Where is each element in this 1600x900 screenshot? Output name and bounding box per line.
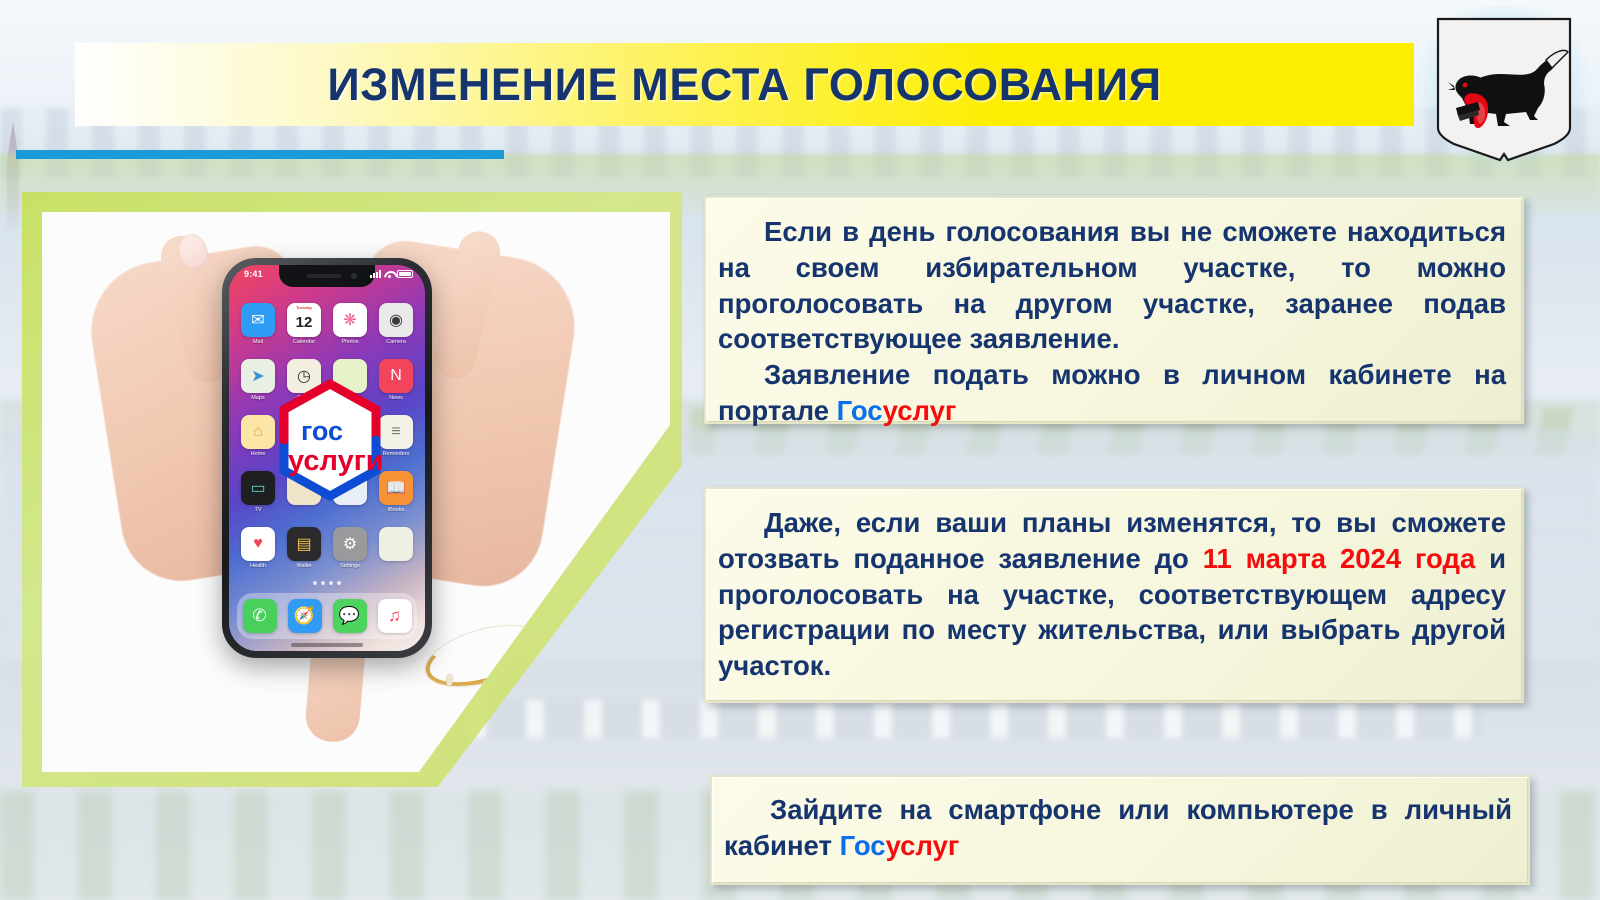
- page-dot[interactable]: [329, 581, 333, 585]
- text-run-blue: Гос: [840, 830, 886, 861]
- phone-notch: [279, 265, 375, 287]
- app-label: Mail: [253, 339, 263, 345]
- app-label: Photos: [341, 339, 358, 345]
- text-run-red: 11 марта 2024 года: [1203, 543, 1476, 574]
- coat-of-arms-icon: [1434, 16, 1574, 166]
- gosuslugi-logo-line2: услуги: [288, 445, 384, 477]
- blank-app-icon[interactable]: [379, 527, 413, 561]
- gosuslugi-logo-line1: гос: [301, 416, 343, 446]
- page-dot[interactable]: [337, 581, 341, 585]
- info-box-3: Зайдите на смартфоне или компьютере в ли…: [710, 775, 1530, 885]
- status-bar-time: 9:41: [244, 269, 263, 279]
- app-item[interactable]: ❋Photos: [331, 303, 369, 345]
- app-label: Settings: [340, 563, 360, 569]
- info-box-1: Если в день голосования вы не сможете на…: [704, 196, 1524, 424]
- calendar-weekday: Tuesday: [287, 305, 321, 310]
- info-paragraph: Зайдите на смартфоне или компьютере в ли…: [724, 792, 1512, 864]
- page-title: ИЗМЕНЕНИЕ МЕСТА ГОЛОСОВАНИЯ: [75, 43, 1414, 126]
- cellular-signal-icon: [370, 270, 381, 278]
- calendar-day: 12: [296, 314, 313, 331]
- settings-app-icon[interactable]: ⚙: [333, 527, 367, 561]
- header-accent-rule: [16, 150, 504, 159]
- wallet-app-icon[interactable]: ▤: [287, 527, 321, 561]
- gosuslugi-hexagon-icon: гос услуги: [268, 378, 392, 502]
- app-label: Calendar: [293, 339, 315, 345]
- text-run-normal: Если в день голосования вы не сможете на…: [718, 216, 1506, 354]
- page-dot[interactable]: [321, 581, 325, 585]
- mail-app-icon[interactable]: ✉: [241, 303, 275, 337]
- info-paragraph: Заявление подать можно в личном кабинете…: [718, 357, 1506, 429]
- home-indicator[interactable]: [291, 643, 363, 647]
- info-paragraph: Если в день голосования вы не сможете на…: [718, 214, 1506, 357]
- health-app-icon[interactable]: ♥: [241, 527, 275, 561]
- text-run-red: услуг: [886, 830, 960, 861]
- app-item[interactable]: ▤Wallet: [285, 527, 323, 569]
- gosuslugi-logo: гос услуги: [268, 378, 392, 502]
- app-label: Health: [250, 563, 266, 569]
- safari-dock-icon[interactable]: 🧭: [288, 599, 322, 633]
- app-label: TV: [254, 507, 261, 513]
- app-label: Home: [251, 451, 266, 457]
- wifi-icon: [384, 270, 394, 278]
- app-label: Camera: [386, 339, 406, 345]
- home-screen-dock: ✆🧭💬♫: [237, 593, 417, 639]
- phone-dock-icon[interactable]: ✆: [243, 599, 277, 633]
- info-paragraph: Даже, если ваши планы изменятся, то вы с…: [718, 505, 1506, 684]
- app-item[interactable]: ♥Health: [239, 527, 277, 569]
- home-screen-page-dots[interactable]: [313, 581, 341, 585]
- app-item[interactable]: ◉Camera: [377, 303, 415, 345]
- music-dock-icon[interactable]: ♫: [378, 599, 412, 633]
- app-label: Wallet: [296, 563, 311, 569]
- text-run-red: услуг: [883, 395, 957, 426]
- text-run-blue: Гос: [837, 395, 883, 426]
- phone-speaker: [307, 274, 341, 278]
- app-item[interactable]: [377, 527, 415, 569]
- photos-app-icon[interactable]: ❋: [333, 303, 367, 337]
- battery-icon: [397, 270, 413, 278]
- messages-dock-icon[interactable]: 💬: [333, 599, 367, 633]
- page-dot[interactable]: [313, 581, 317, 585]
- app-label: iBooks: [388, 507, 405, 513]
- app-item[interactable]: ⚙Settings: [331, 527, 369, 569]
- info-box-2: Даже, если ваши планы изменятся, то вы с…: [704, 487, 1524, 703]
- app-item[interactable]: Tuesday12Calendar: [285, 303, 323, 345]
- calendar-app-icon[interactable]: Tuesday12: [287, 303, 321, 337]
- phone-front-camera: [351, 273, 357, 279]
- camera-app-icon[interactable]: ◉: [379, 303, 413, 337]
- bracelet-charm: [446, 674, 453, 686]
- status-bar-icons: [370, 270, 413, 278]
- slide-canvas: ИЗМЕНЕНИЕ МЕСТА ГОЛОСОВАНИЯ: [0, 0, 1600, 900]
- app-label: Maps: [251, 395, 264, 401]
- app-item[interactable]: ✉Mail: [239, 303, 277, 345]
- coat-of-arms-irkutsk: [1416, 6, 1592, 170]
